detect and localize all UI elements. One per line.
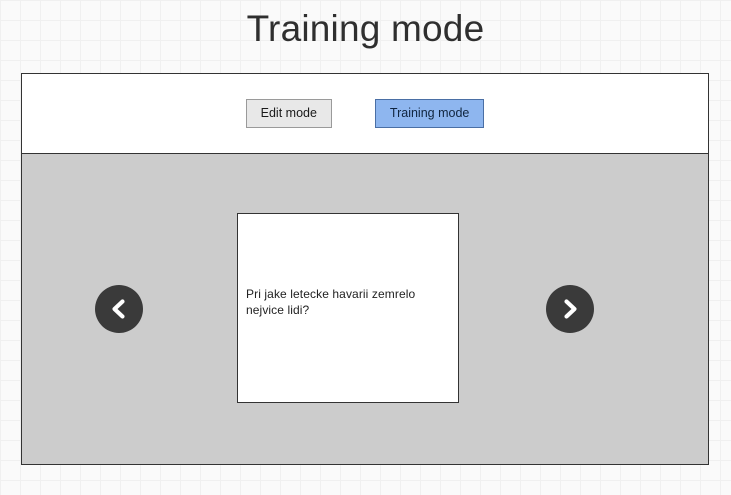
next-card-button[interactable] [546, 285, 594, 333]
app-panel: Edit mode Training mode Pri jake letecke… [21, 73, 709, 465]
card-stage: Pri jake letecke havarii zemrelo nejvice… [22, 154, 708, 464]
training-mode-button[interactable]: Training mode [375, 99, 484, 129]
flashcard-question-text: Pri jake letecke havarii zemrelo nejvice… [246, 286, 442, 318]
previous-card-button[interactable] [95, 285, 143, 333]
chevron-right-icon [559, 298, 581, 320]
flashcard[interactable]: Pri jake letecke havarii zemrelo nejvice… [237, 213, 459, 403]
page-title: Training mode [0, 7, 731, 51]
chevron-left-icon [108, 298, 130, 320]
edit-mode-button[interactable]: Edit mode [246, 99, 332, 129]
mode-toolbar: Edit mode Training mode [22, 74, 708, 154]
